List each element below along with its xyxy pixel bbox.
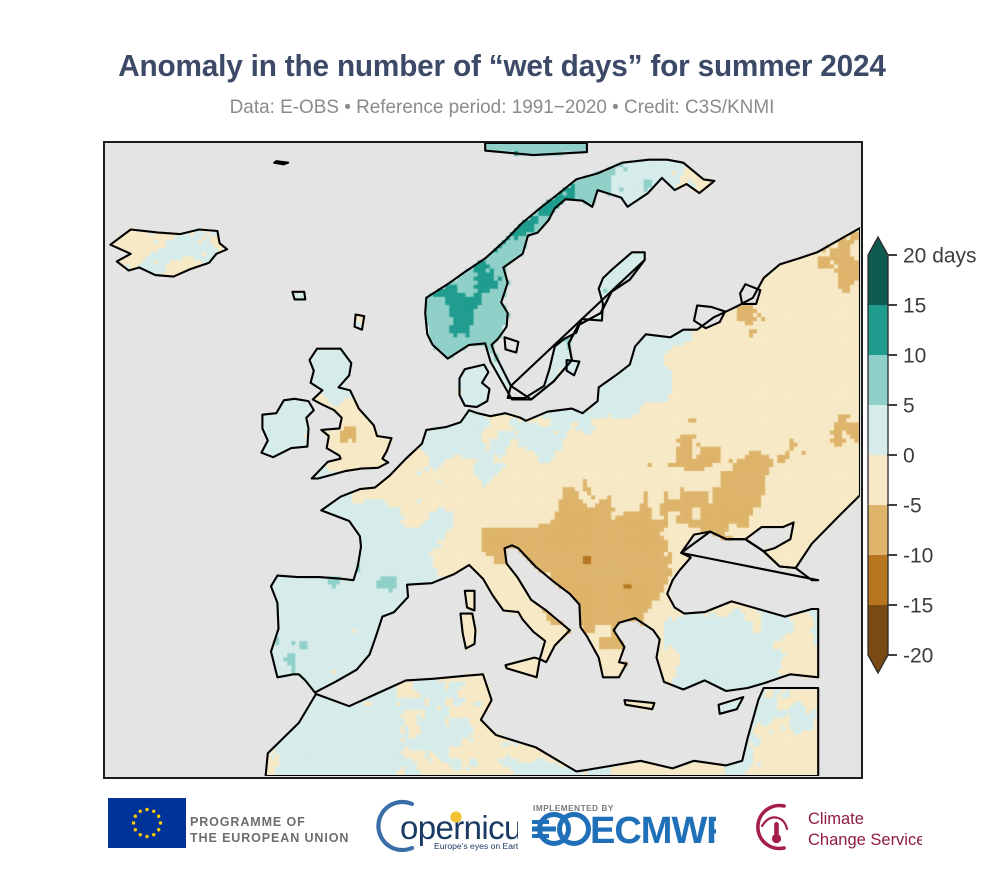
ecmwf-logo: IMPLEMENTED BY ECMWF [530, 798, 716, 889]
colorbar-tick-label: -5 [903, 495, 922, 518]
colorbar-over-arrow [868, 237, 888, 255]
colorbar-band [868, 605, 888, 656]
page-title: Anomaly in the number of “wet days” for … [20, 0, 984, 84]
eu-star-icon [152, 833, 155, 836]
eu-star-icon [157, 815, 160, 818]
copernicus-mark-icon: opernicus Europe's eyes on Earth [370, 798, 518, 852]
eu-star-icon [159, 821, 162, 824]
colorbar: 20 days151050-5-10-15-20 [858, 231, 1004, 701]
colorbar-band [868, 505, 888, 556]
eu-star-icon [145, 808, 148, 811]
eu-star-icon [139, 833, 142, 836]
colorbar-tick-label: 0 [903, 445, 915, 468]
page-subtitle: Data: E-OBS • Reference period: 1991−202… [15, 84, 989, 119]
anomaly-heatmap-canvas [105, 143, 860, 776]
eu-flag-icon [108, 798, 186, 848]
colorbar-tick-label: 10 [903, 345, 926, 368]
figure-header: Anomaly in the number of “wet days” for … [0, 0, 1004, 119]
eu-programme-line2: THE EUROPEAN UNION [190, 830, 349, 846]
svg-text:Climate: Climate [808, 810, 864, 828]
colorbar-tick-label: -15 [903, 595, 933, 618]
colorbar-band [868, 255, 888, 306]
svg-text:Change Service: Change Service [808, 831, 922, 849]
colorbar-band [868, 555, 888, 606]
eu-star-icon [152, 810, 155, 813]
eu-programme-text: PROGRAMME OF THE EUROPEAN UNION [190, 814, 349, 846]
eu-programme-line1: PROGRAMME OF [190, 814, 349, 830]
eu-star-icon [139, 810, 142, 813]
map-frame [103, 141, 863, 779]
eu-star-icon [145, 835, 148, 838]
colorbar-tick-label: 15 [903, 295, 926, 318]
colorbar-tick-label: -20 [903, 645, 933, 668]
colorbar-tick-label: -10 [903, 545, 933, 568]
map-figure [103, 141, 863, 779]
figure-footer: PROGRAMME OF THE EUROPEAN UNION opernicu… [0, 798, 1004, 889]
c3s-mark-icon: Climate Change Service [742, 798, 922, 852]
copernicus-logo: opernicus Europe's eyes on Earth [370, 798, 518, 889]
svg-text:Europe's eyes on Earth: Europe's eyes on Earth [434, 841, 518, 851]
eu-star-icon [157, 828, 160, 831]
colorbar-tick-label: 20 days [903, 245, 977, 268]
colorbar-under-arrow [868, 655, 888, 673]
colorbar-band [868, 355, 888, 406]
colorbar-tick-label: 5 [903, 395, 915, 418]
implemented-by-label: IMPLEMENTED BY [533, 804, 614, 813]
eu-star-icon [134, 815, 137, 818]
eu-star-icon [134, 828, 137, 831]
eu-logo: PROGRAMME OF THE EUROPEAN UNION [108, 798, 186, 889]
c3s-logo: Climate Change Service [742, 798, 922, 889]
colorbar-band [868, 305, 888, 356]
colorbar-band [868, 405, 888, 456]
colorbar-band [868, 455, 888, 506]
eu-star-icon [132, 821, 135, 824]
svg-text:ECMWF: ECMWF [590, 810, 716, 852]
